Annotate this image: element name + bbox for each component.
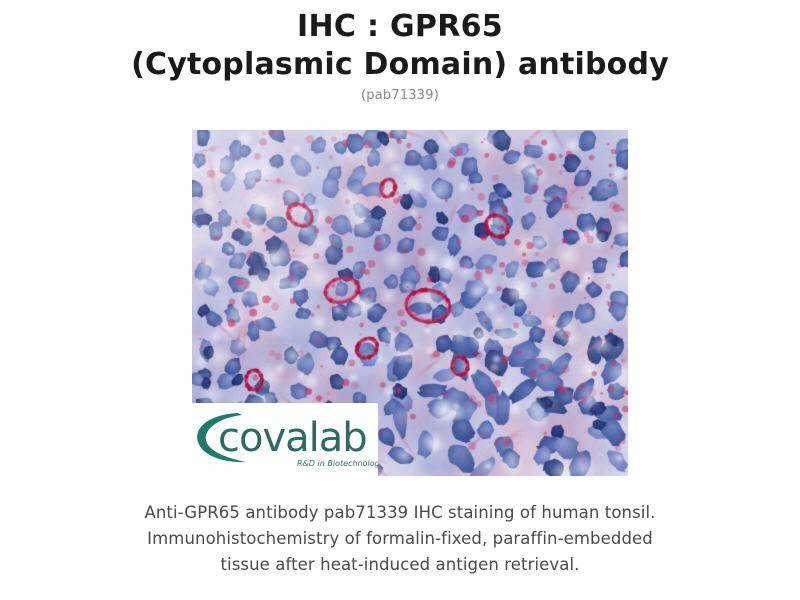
- caption-line-2: Immunohistochemistry of formalin-fixed, …: [0, 526, 800, 552]
- catalog-code: (pab71339): [0, 87, 800, 105]
- figure-page: IHC : GPR65 (Cytoplasmic Domain) antibod…: [0, 0, 800, 600]
- covalab-watermark: covalab R&D in Biotechnology: [192, 403, 378, 476]
- page-title-line-2: (Cytoplasmic Domain) antibody: [0, 46, 800, 84]
- covalab-logo-svg: covalab R&D in Biotechnology: [192, 403, 378, 476]
- covalab-tagline: R&D in Biotechnology: [297, 459, 378, 468]
- title-block: IHC : GPR65 (Cytoplasmic Domain) antibod…: [0, 0, 800, 105]
- figure-caption: Anti-GPR65 antibody pab71339 IHC stainin…: [0, 500, 800, 578]
- caption-line-1: Anti-GPR65 antibody pab71339 IHC stainin…: [0, 500, 800, 526]
- covalab-wordmark: covalab: [218, 415, 367, 461]
- caption-line-3: tissue after heat-induced antigen retrie…: [0, 552, 800, 578]
- page-title-line-1: IHC : GPR65: [0, 8, 800, 46]
